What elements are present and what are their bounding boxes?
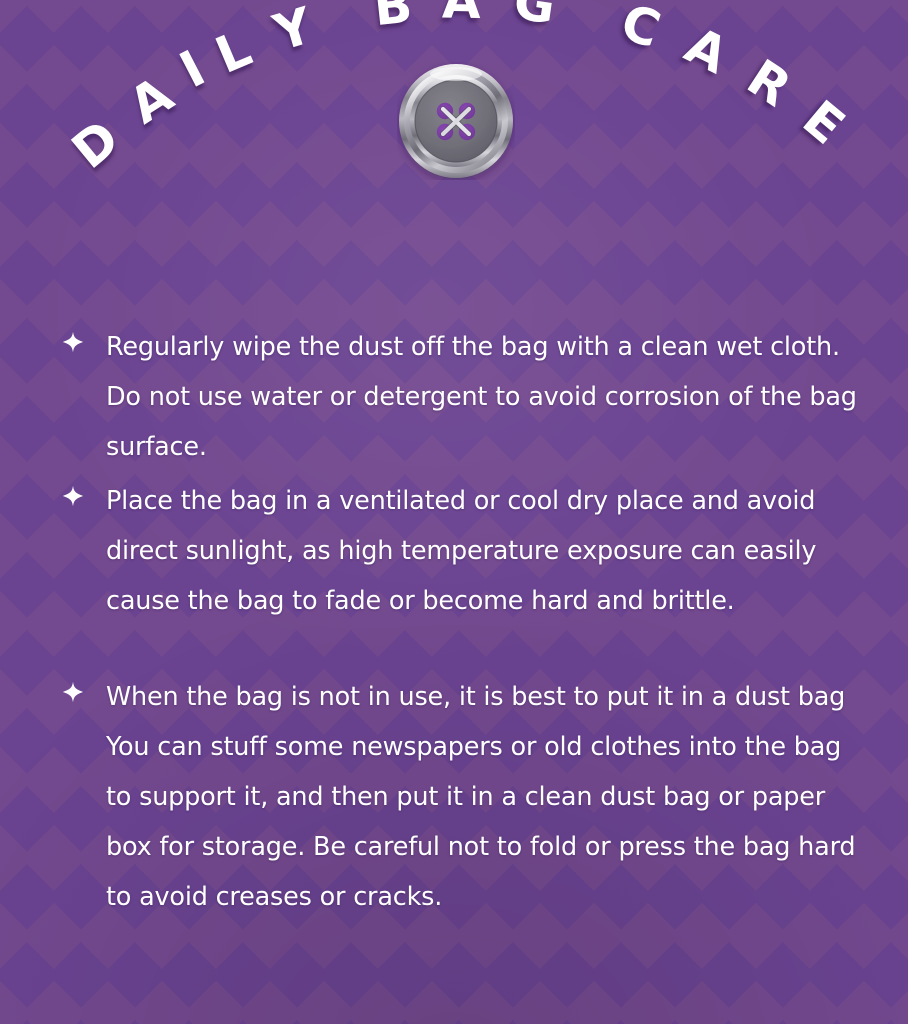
care-item-text: When the bag is not in use, it is best t… [106, 672, 860, 922]
care-item-wipe-dust: Regularly wipe the dust off the bag with… [60, 322, 860, 472]
poster-header: DAILY BAG CARE [0, 0, 908, 300]
title-letter: L [207, 19, 259, 85]
title-letter: Y [268, 0, 319, 62]
care-instructions-list: Regularly wipe the dust off the bag with… [60, 322, 860, 926]
title-letter: R [737, 48, 801, 118]
title-letter: A [442, 0, 481, 30]
title-letter: I [171, 39, 214, 99]
title-letter: G [510, 0, 559, 35]
care-item-dust-bag-storage: When the bag is not in use, it is best t… [60, 672, 860, 922]
care-item-text: Place the bag in a ventilated or cool dr… [106, 476, 860, 626]
title-letter [328, 0, 356, 44]
four-pointed-star-icon [62, 681, 84, 703]
title-letter: B [371, 0, 415, 37]
title-letter [574, 0, 605, 45]
title-letter: A [677, 16, 737, 85]
four-pointed-star-icon [62, 485, 84, 507]
title-letter: C [614, 0, 668, 59]
care-item-ventilated-storage: Place the bag in a ventilated or cool dr… [60, 476, 860, 626]
title-letter: D [61, 109, 130, 180]
title-letter: A [119, 65, 183, 135]
title-letter: E [792, 89, 855, 155]
four-pointed-star-icon [62, 331, 84, 353]
poster-canvas: DAILY BAG CARE Regularly wipe the dust o… [0, 0, 908, 1024]
care-item-text: Regularly wipe the dust off the bag with… [106, 322, 860, 472]
page-title: DAILY BAG CARE [0, 140, 908, 290]
